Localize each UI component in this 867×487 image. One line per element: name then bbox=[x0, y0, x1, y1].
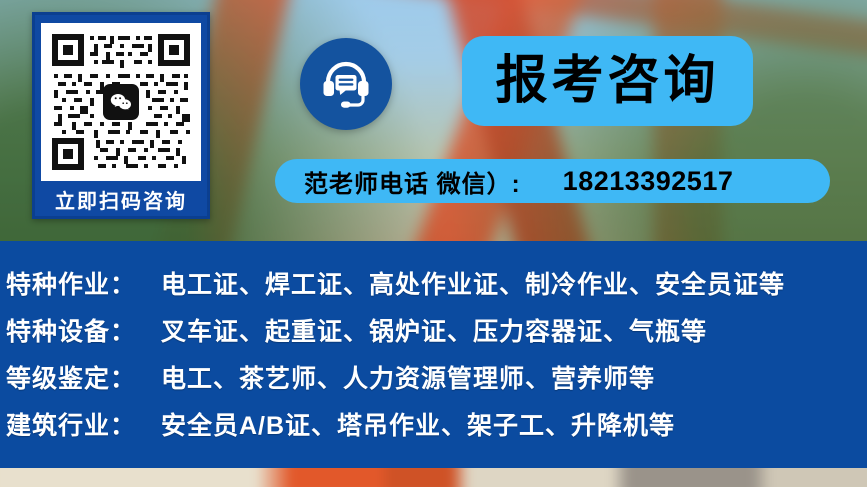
qr-finder-top-right bbox=[158, 34, 190, 66]
page-title: 报考咨询 bbox=[495, 53, 719, 109]
headset-support-chat-icon bbox=[300, 38, 392, 130]
qr-code-image bbox=[48, 30, 194, 174]
qr-code-frame bbox=[41, 23, 201, 181]
certificate-categories-panel: 特种作业： 电工证、焊工证、高处作业证、制冷作业、安全员证等 特种设备： 叉车证… bbox=[0, 241, 867, 468]
contact-phone-number[interactable]: 18213392517 bbox=[563, 166, 734, 197]
contact-label: 范老师电话 微信）: bbox=[304, 164, 521, 199]
bottom-photo-blurred bbox=[0, 468, 867, 487]
contact-info-badge[interactable]: 范老师电话 微信）: 18213392517 bbox=[275, 159, 830, 203]
info-row-special-equipment: 特种设备： 叉车证、起重证、锅炉证、压力容器证、气瓶等 bbox=[6, 312, 867, 359]
category-label: 特种设备： bbox=[6, 312, 161, 348]
category-value: 叉车证、起重证、锅炉证、压力容器证、气瓶等 bbox=[161, 312, 707, 348]
wechat-icon bbox=[103, 84, 139, 120]
category-value: 安全员A/B证、塔吊作业、架子工、升降机等 bbox=[161, 406, 675, 442]
consultation-title-badge: 报考咨询 bbox=[462, 36, 753, 126]
category-label: 等级鉴定： bbox=[6, 359, 161, 395]
qr-caption: 立即扫码咨询 bbox=[55, 187, 187, 217]
category-value: 电工证、焊工证、高处作业证、制冷作业、安全员证等 bbox=[161, 265, 785, 301]
category-value: 电工、茶艺师、人力资源管理师、营养师等 bbox=[161, 359, 655, 395]
promo-poster: 立即扫码咨询 报考咨询 范老师电话 微信）: 18213392517 特种作业：… bbox=[0, 0, 867, 487]
qr-finder-top-left bbox=[52, 34, 84, 66]
qr-code-card[interactable]: 立即扫码咨询 bbox=[32, 12, 210, 219]
info-row-special-operations: 特种作业： 电工证、焊工证、高处作业证、制冷作业、安全员证等 bbox=[6, 265, 867, 312]
category-label: 建筑行业： bbox=[6, 406, 161, 442]
info-row-construction-industry: 建筑行业： 安全员A/B证、塔吊作业、架子工、升降机等 bbox=[6, 406, 867, 453]
category-label: 特种作业： bbox=[6, 265, 161, 301]
info-row-grade-assessment: 等级鉴定： 电工、茶艺师、人力资源管理师、营养师等 bbox=[6, 359, 867, 406]
bottom-photo-strip bbox=[0, 468, 867, 487]
qr-finder-bottom-left bbox=[52, 138, 84, 170]
